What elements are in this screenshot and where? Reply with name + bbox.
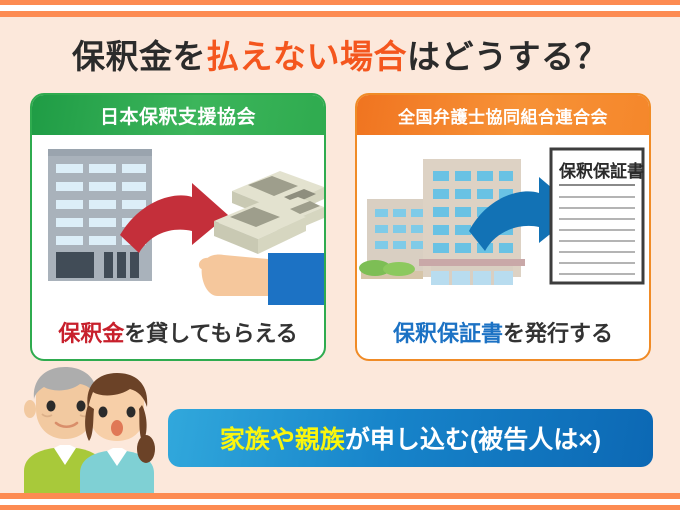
bail-certificate-document-icon: 保釈保証書 (551, 149, 644, 283)
family-couple-illustration (14, 365, 164, 493)
card-figure-right: 保釈保証書 (357, 135, 649, 305)
page-title: 保釈金を払えない場合はどうする？ (0, 30, 680, 78)
card-caption-right: 保釈保証書を発行する (357, 305, 649, 359)
page-title-part-3: はどうする？ (407, 38, 608, 75)
open-hand-icon (199, 254, 280, 296)
card-caption-left-highlight: 保釈金 (58, 316, 124, 348)
top-band-inner (0, 11, 680, 17)
card-header-right: 全国弁護士協同組合連合会 (357, 95, 649, 135)
card-japan-bail-support-association[interactable]: 日本保釈支援協会 (30, 93, 326, 361)
document-title: 保釈保証書 (558, 161, 644, 181)
bottom-banner[interactable]: 家族や親族が申し込む(被告人は×) (168, 409, 653, 467)
woman-icon (80, 373, 155, 493)
card-caption-right-rest: を発行する (503, 316, 613, 348)
blue-sleeve (268, 253, 324, 305)
cash-bundles-icon (214, 171, 324, 254)
page-title-part-1: 保釈金を (72, 38, 206, 75)
banner-highlight: 家族や親族 (220, 420, 345, 456)
card-national-federation-of-bar-associations[interactable]: 全国弁護士協同組合連合会 (355, 93, 651, 361)
card-figure-left (32, 135, 324, 305)
page-title-highlight: 払えない場合 (206, 38, 407, 75)
card-caption-right-highlight: 保釈保証書 (393, 316, 503, 348)
card-caption-left-rest: を貸してもらえる (124, 316, 298, 348)
banner-rest: が申し込む(被告人は×) (345, 420, 601, 456)
bottom-band-outer (0, 505, 680, 510)
lend-bail-money-illustration (32, 135, 324, 305)
card-header-left: 日本保釈支援協会 (32, 95, 324, 135)
issue-bail-certificate-illustration: 保釈保証書 (357, 135, 649, 305)
card-caption-left: 保釈金を貸してもらえる (32, 305, 324, 359)
